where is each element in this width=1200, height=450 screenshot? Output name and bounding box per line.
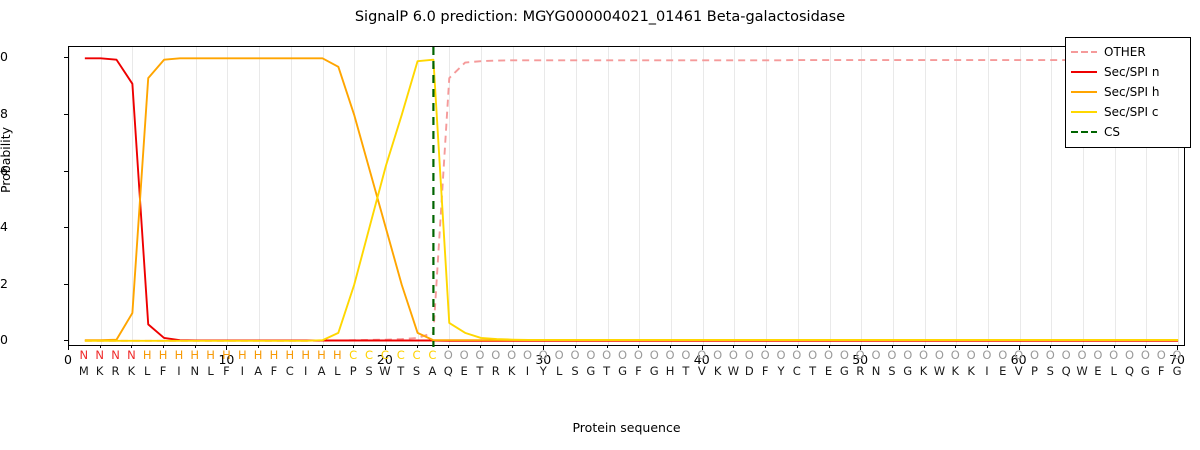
amino-acid-letter: I — [980, 364, 994, 378]
legend-swatch-other — [1071, 46, 1097, 58]
region-label: O — [584, 348, 598, 362]
region-label: O — [932, 348, 946, 362]
region-label: O — [726, 348, 740, 362]
legend-swatch-sec-spi-n — [1071, 66, 1097, 78]
region-label: O — [679, 348, 693, 362]
region-label: O — [552, 348, 566, 362]
amino-acid-letter: Q — [441, 364, 455, 378]
region-label: O — [1075, 348, 1089, 362]
amino-acid-letter: D — [742, 364, 756, 378]
amino-acid-letter: L — [1107, 364, 1121, 378]
region-label: O — [853, 348, 867, 362]
amino-acid-letter: I — [299, 364, 313, 378]
amino-acid-letter: T — [806, 364, 820, 378]
legend-swatch-sec-spi-c — [1071, 106, 1097, 118]
amino-acid-letter: L — [330, 364, 344, 378]
amino-acid-letter: Q — [1059, 364, 1073, 378]
amino-acid-letter: V — [1012, 364, 1026, 378]
region-label: O — [505, 348, 519, 362]
amino-acid-letter: F — [758, 364, 772, 378]
region-label: N — [109, 348, 123, 362]
region-label: H — [188, 348, 202, 362]
region-label: O — [711, 348, 725, 362]
amino-acid-letter: W — [932, 364, 946, 378]
amino-acid-letter: K — [917, 364, 931, 378]
legend-item-sec-spi-n: Sec/SPI n — [1071, 62, 1185, 82]
amino-acid-letter: W — [726, 364, 740, 378]
amino-acid-letter: L — [552, 364, 566, 378]
amino-acid-letter: A — [425, 364, 439, 378]
amino-acid-letter: K — [964, 364, 978, 378]
amino-acid-letter: E — [457, 364, 471, 378]
region-label: H — [251, 348, 265, 362]
region-label: H — [204, 348, 218, 362]
legend-swatch-cs — [1071, 126, 1097, 138]
region-label: O — [441, 348, 455, 362]
x-axis-label: Protein sequence — [68, 420, 1185, 435]
amino-acid-letter: C — [283, 364, 297, 378]
region-label: O — [1027, 348, 1041, 362]
series-line-sec-spi-n — [85, 58, 1178, 340]
region-annotation-row: NNNNHHHHHHHHHHHHHCCCCCCOOOOOOOOOOOOOOOOO… — [0, 348, 1200, 363]
region-label: H — [315, 348, 329, 362]
amino-acid-letter: N — [869, 364, 883, 378]
legend-item-other: OTHER — [1071, 42, 1185, 62]
region-label: O — [996, 348, 1010, 362]
region-label: O — [806, 348, 820, 362]
amino-acid-letter: N — [188, 364, 202, 378]
amino-acid-letter: A — [315, 364, 329, 378]
amino-acid-letter: S — [362, 364, 376, 378]
y-tick-label: 1.0 — [0, 49, 8, 64]
region-label: O — [1138, 348, 1152, 362]
y-tick-label: 0.2 — [0, 276, 8, 291]
amino-acid-letter: T — [394, 364, 408, 378]
region-label: O — [489, 348, 503, 362]
series-line-sec-spi-h — [85, 58, 1178, 340]
amino-acid-letter: S — [885, 364, 899, 378]
region-label: O — [616, 348, 630, 362]
region-label: O — [964, 348, 978, 362]
amino-acid-letter: K — [124, 364, 138, 378]
region-label: N — [124, 348, 138, 362]
amino-acid-letter: T — [600, 364, 614, 378]
region-label: H — [267, 348, 281, 362]
region-label: O — [695, 348, 709, 362]
amino-acid-letter: G — [647, 364, 661, 378]
amino-acid-letter: E — [822, 364, 836, 378]
region-label: O — [568, 348, 582, 362]
amino-acid-letter: G — [1138, 364, 1152, 378]
region-label: H — [235, 348, 249, 362]
region-label: H — [330, 348, 344, 362]
amino-acid-letter: S — [1043, 364, 1057, 378]
y-tick-label: 0.0 — [0, 332, 8, 347]
region-label: O — [473, 348, 487, 362]
y-tick-label: 0.4 — [0, 219, 8, 234]
legend-item-sec-spi-c: Sec/SPI c — [1071, 102, 1185, 122]
region-label: O — [663, 348, 677, 362]
y-tick-label: 0.6 — [0, 163, 8, 178]
amino-acid-letter: G — [901, 364, 915, 378]
region-label: O — [520, 348, 534, 362]
region-label: O — [457, 348, 471, 362]
amino-acid-letter: W — [378, 364, 392, 378]
amino-acid-letter: M — [77, 364, 91, 378]
region-label: C — [362, 348, 376, 362]
region-label: O — [1154, 348, 1168, 362]
amino-acid-letter: G — [1170, 364, 1184, 378]
amino-acid-letter: R — [489, 364, 503, 378]
region-label: O — [1091, 348, 1105, 362]
series-line-sec-spi-c — [85, 60, 1178, 341]
chart-legend: OTHER Sec/SPI n Sec/SPI h Sec/SPI c CS — [1065, 37, 1191, 148]
region-label: O — [790, 348, 804, 362]
region-label: O — [1012, 348, 1026, 362]
region-label: O — [822, 348, 836, 362]
amino-acid-letter: Q — [1123, 364, 1137, 378]
region-label: C — [394, 348, 408, 362]
amino-acid-letter: H — [663, 364, 677, 378]
amino-acid-letter: S — [410, 364, 424, 378]
amino-acid-letter: F — [156, 364, 170, 378]
region-label: H — [283, 348, 297, 362]
region-label: O — [774, 348, 788, 362]
amino-acid-letter: L — [140, 364, 154, 378]
region-label: H — [219, 348, 233, 362]
legend-label-cs: CS — [1104, 125, 1120, 139]
region-label: H — [172, 348, 186, 362]
plot-area — [68, 46, 1185, 346]
region-label: H — [299, 348, 313, 362]
region-label: O — [647, 348, 661, 362]
legend-swatch-sec-spi-h — [1071, 86, 1097, 98]
amino-acid-letter: C — [790, 364, 804, 378]
region-label: N — [93, 348, 107, 362]
amino-acid-letter: L — [204, 364, 218, 378]
amino-acid-letter: G — [616, 364, 630, 378]
amino-acid-letter: T — [473, 364, 487, 378]
amino-acid-letter: W — [1075, 364, 1089, 378]
amino-acid-letter: F — [219, 364, 233, 378]
amino-acid-letter: E — [996, 364, 1010, 378]
series-lines — [69, 47, 1186, 347]
amino-acid-letter: P — [346, 364, 360, 378]
legend-label-sec-spi-n: Sec/SPI n — [1104, 65, 1159, 79]
region-label: O — [536, 348, 550, 362]
amino-acid-letter: A — [251, 364, 265, 378]
amino-acid-letter: K — [711, 364, 725, 378]
amino-acid-letter: Y — [536, 364, 550, 378]
region-label: H — [140, 348, 154, 362]
amino-acid-sequence-row: MKRKLFINLFIAFCIALPSWTSAQETRKIYLSGTGFGHTV… — [0, 364, 1200, 379]
region-label: O — [1123, 348, 1137, 362]
amino-acid-letter: S — [568, 364, 582, 378]
amino-acid-letter: F — [1154, 364, 1168, 378]
amino-acid-letter: I — [520, 364, 534, 378]
y-tick-label: 0.8 — [0, 106, 8, 121]
region-label: O — [1170, 348, 1184, 362]
region-label: O — [742, 348, 756, 362]
series-line-other — [85, 60, 1178, 341]
amino-acid-letter: K — [948, 364, 962, 378]
region-label: C — [410, 348, 424, 362]
region-label: O — [917, 348, 931, 362]
region-label: H — [156, 348, 170, 362]
legend-item-sec-spi-h: Sec/SPI h — [1071, 82, 1185, 102]
legend-label-other: OTHER — [1104, 45, 1146, 59]
region-label: O — [631, 348, 645, 362]
amino-acid-letter: R — [853, 364, 867, 378]
region-label: O — [980, 348, 994, 362]
legend-label-sec-spi-h: Sec/SPI h — [1104, 85, 1159, 99]
amino-acid-letter: G — [837, 364, 851, 378]
region-label: O — [948, 348, 962, 362]
region-label: O — [901, 348, 915, 362]
region-label: C — [425, 348, 439, 362]
legend-item-cs: CS — [1071, 122, 1185, 142]
region-label: O — [758, 348, 772, 362]
region-label: O — [885, 348, 899, 362]
amino-acid-letter: K — [93, 364, 107, 378]
region-label: O — [837, 348, 851, 362]
amino-acid-letter: P — [1027, 364, 1041, 378]
amino-acid-letter: I — [172, 364, 186, 378]
region-label: N — [77, 348, 91, 362]
chart-title: SignalP 6.0 prediction: MGYG000004021_01… — [0, 9, 1200, 25]
region-label: O — [600, 348, 614, 362]
region-label: C — [346, 348, 360, 362]
region-label: O — [869, 348, 883, 362]
region-label: C — [378, 348, 392, 362]
signalp-prediction-figure: SignalP 6.0 prediction: MGYG000004021_01… — [0, 0, 1200, 450]
amino-acid-letter: I — [235, 364, 249, 378]
amino-acid-letter: T — [679, 364, 693, 378]
amino-acid-letter: V — [695, 364, 709, 378]
legend-label-sec-spi-c: Sec/SPI c — [1104, 105, 1158, 119]
region-label: O — [1059, 348, 1073, 362]
amino-acid-letter: E — [1091, 364, 1105, 378]
amino-acid-letter: R — [109, 364, 123, 378]
amino-acid-letter: K — [505, 364, 519, 378]
amino-acid-letter: Y — [774, 364, 788, 378]
amino-acid-letter: F — [267, 364, 281, 378]
region-label: O — [1043, 348, 1057, 362]
region-label: O — [1107, 348, 1121, 362]
amino-acid-letter: F — [631, 364, 645, 378]
amino-acid-letter: G — [584, 364, 598, 378]
